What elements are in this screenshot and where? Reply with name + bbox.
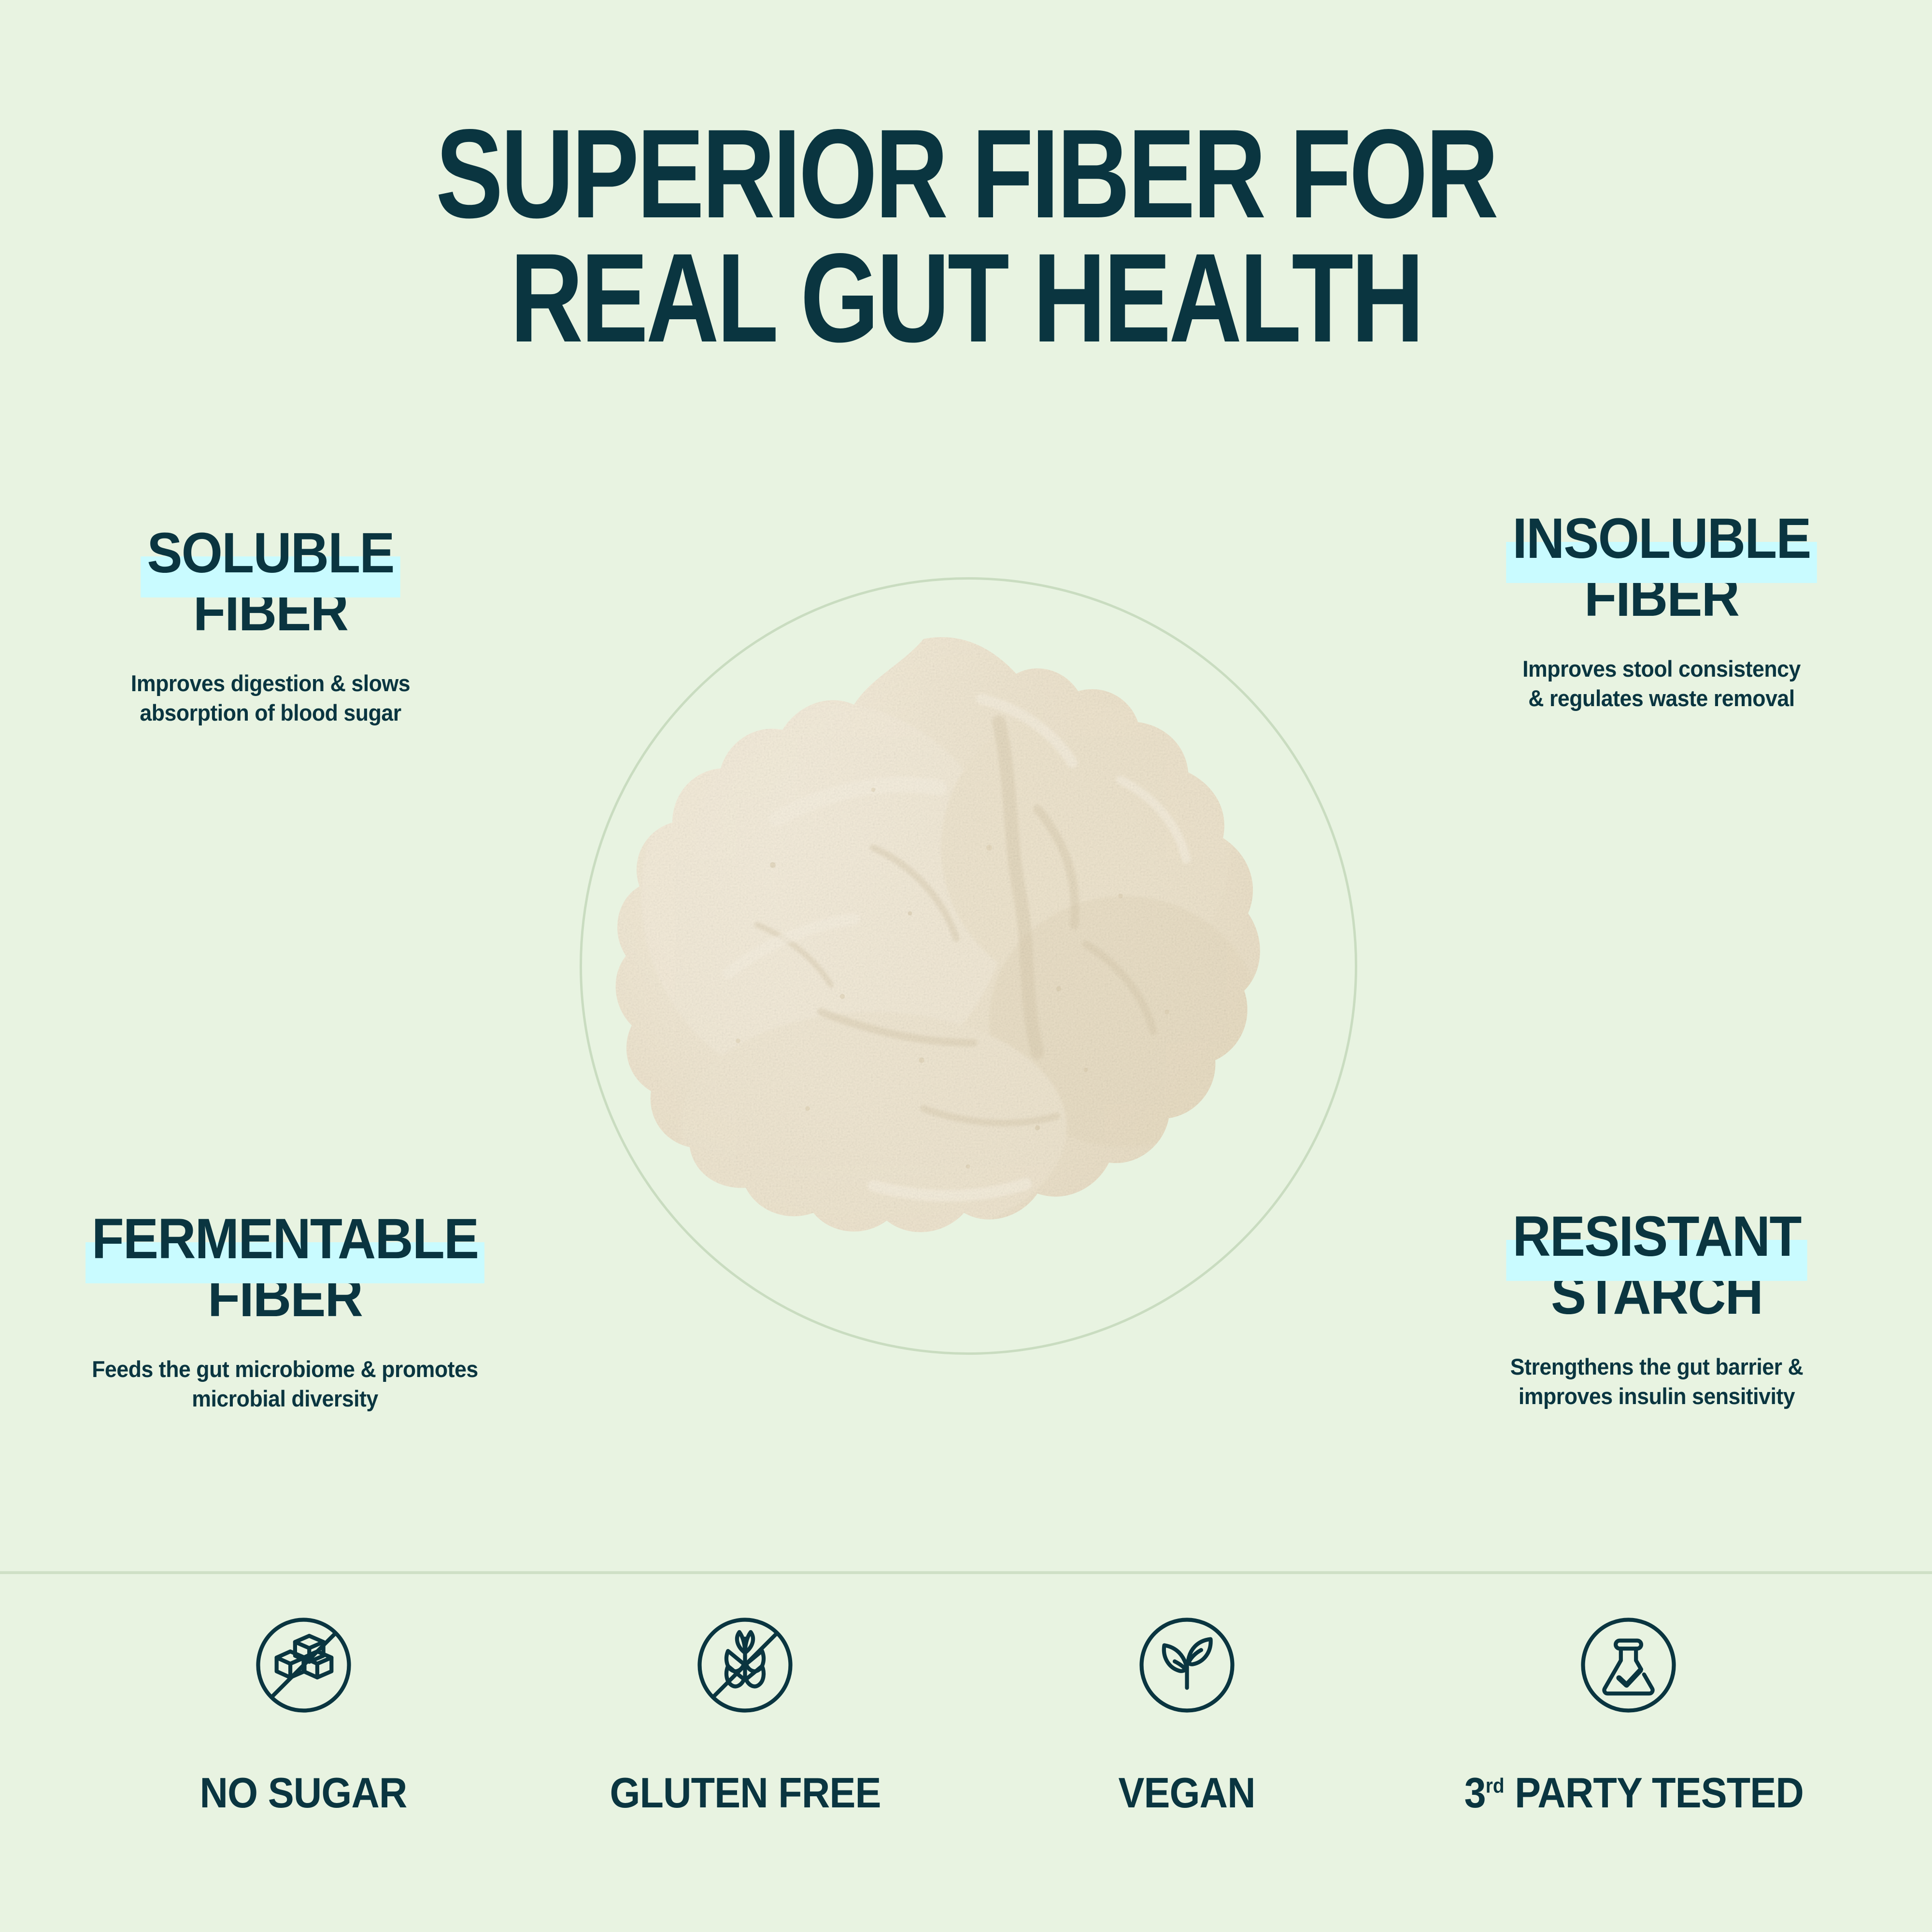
feature-resistant-starch: RESISTANT STARCH Strengthens the gut bar…: [1381, 1207, 1932, 1411]
feature-title: FERMENTABLE FIBER: [20, 1210, 550, 1326]
flask-check-icon: [1572, 1608, 1685, 1722]
feature-desc-line-1: Feeds the gut microbiome & promotes: [14, 1354, 556, 1384]
badge-gluten-free: GLUTEN FREE: [567, 1608, 924, 1818]
feature-desc-line-2: improves insulin sensitivity: [1395, 1381, 1918, 1411]
headline-line-1: SUPERIOR FIBER FOR: [193, 112, 1739, 236]
feature-title-highlight: FERMENTABLE: [92, 1210, 479, 1268]
badge-label: GLUTEN FREE: [581, 1768, 909, 1818]
feature-title: INSOLUBLE FIBER: [1410, 510, 1913, 626]
section-divider: [0, 1571, 1932, 1574]
no-sugar-cubes-icon: [247, 1608, 360, 1722]
page-headline: SUPERIOR FIBER FOR REAL GUT HEALTH: [0, 112, 1932, 360]
feature-desc-line-2: absorption of blood sugar: [14, 698, 527, 727]
badge-label: 3rd PARTY TESTED: [1464, 1768, 1793, 1818]
feature-soluble-fiber: SOLUBLE FIBER Improves digestion & slows…: [0, 524, 541, 727]
badge-third-party-tested: 3rd PARTY TESTED: [1450, 1608, 1807, 1818]
feature-insoluble-fiber: INSOLUBLE FIBER Improves stool consisten…: [1391, 510, 1932, 713]
feature-description: Improves stool consistency & regulates w…: [1405, 654, 1918, 713]
feature-title-highlight: RESISTANT: [1512, 1207, 1801, 1265]
badge-label-ordinal: rd: [1486, 1775, 1505, 1797]
feature-desc-line-2: & regulates waste removal: [1405, 683, 1918, 713]
feature-title-highlight: INSOLUBLE: [1512, 510, 1810, 568]
sprout-leaf-icon: [1130, 1608, 1244, 1722]
badge-vegan: VEGAN: [1008, 1608, 1365, 1818]
badge-label: VEGAN: [1023, 1768, 1351, 1818]
feature-fermentable-fiber: FERMENTABLE FIBER Feeds the gut microbio…: [0, 1210, 570, 1413]
feature-description: Strengthens the gut barrier & improves i…: [1395, 1352, 1918, 1411]
fiber-powder-mound-icon: [583, 606, 1298, 1302]
feature-desc-line-1: Improves stool consistency: [1405, 654, 1918, 683]
badge-label: NO SUGAR: [139, 1768, 468, 1818]
badge-label-number: 3: [1464, 1769, 1486, 1817]
hero-product-stage: [580, 577, 1357, 1355]
feature-description: Improves digestion & slows absorption of…: [14, 668, 527, 727]
feature-desc-line-2: microbial diversity: [14, 1384, 556, 1413]
badge-label-rest: PARTY TESTED: [1505, 1769, 1804, 1817]
feature-desc-line-1: Strengthens the gut barrier &: [1395, 1352, 1918, 1381]
feature-title: RESISTANT STARCH: [1401, 1207, 1913, 1324]
certification-badge-row: NO SUGAR GLUTEN FREE: [0, 1608, 1932, 1818]
feature-title: SOLUBLE FIBER: [19, 524, 522, 640]
badge-no-sugar: NO SUGAR: [125, 1608, 482, 1818]
feature-description: Feeds the gut microbiome & promotes micr…: [14, 1354, 556, 1413]
no-wheat-icon: [688, 1608, 802, 1722]
headline-line-2: REAL GUT HEALTH: [193, 236, 1739, 360]
feature-desc-line-1: Improves digestion & slows: [14, 668, 527, 698]
feature-title-highlight: SOLUBLE: [147, 524, 394, 582]
